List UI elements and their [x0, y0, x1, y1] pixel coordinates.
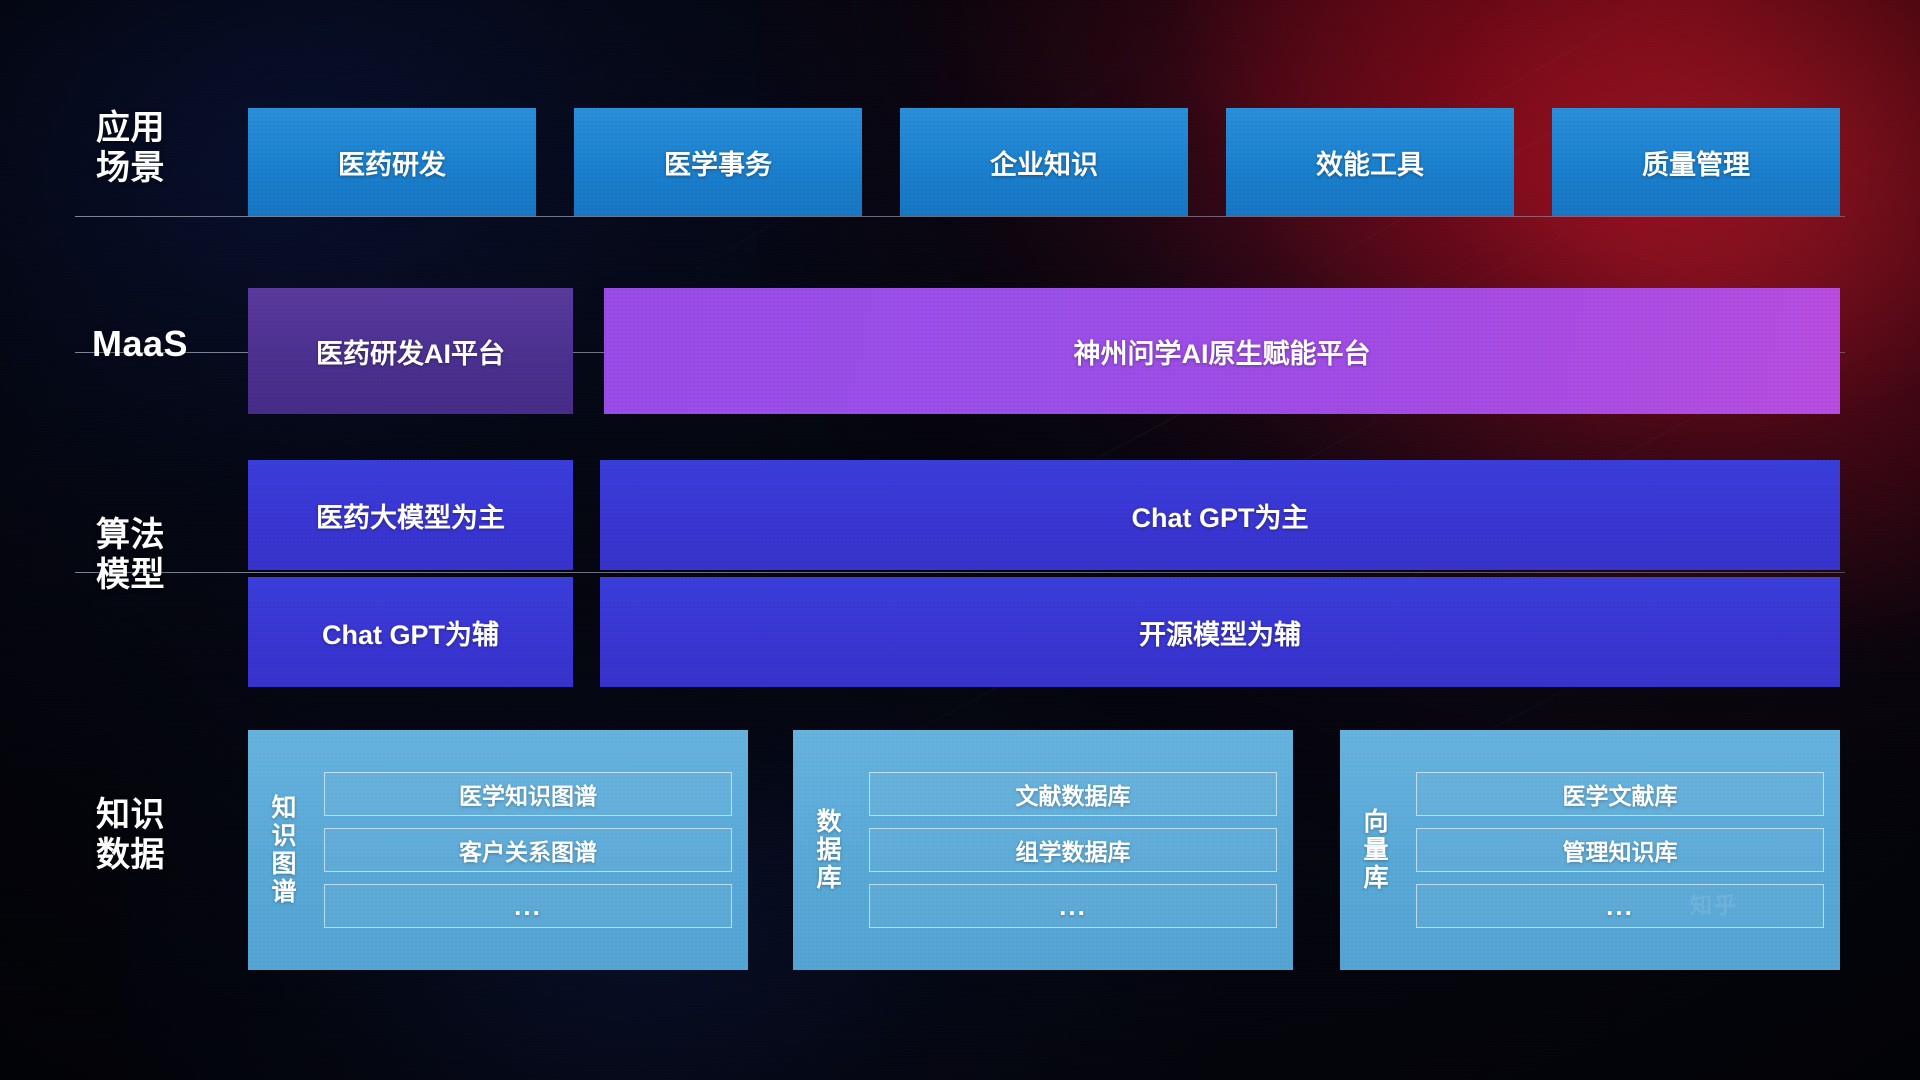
row-label-algorithm-model: 算法 模型 — [96, 515, 236, 595]
knowledge-group-2-item-1[interactable]: 文献数据库 — [869, 772, 1277, 816]
maas-box-right[interactable]: 神州问学AI原生赋能平台 — [604, 288, 1840, 414]
application-box-3-label: 企业知识 — [990, 143, 1098, 182]
application-box-1-label: 医药研发 — [338, 143, 446, 182]
knowledge-group-2-item-2[interactable]: 组学数据库 — [869, 828, 1277, 872]
application-box-2[interactable]: 医学事务 — [574, 108, 862, 216]
row-label-maas: MaaS — [92, 323, 252, 365]
algorithm-box-primary-medical[interactable]: 医药大模型为主 — [248, 460, 573, 570]
application-box-4[interactable]: 效能工具 — [1226, 108, 1514, 216]
kg1-title-char-1: 知 — [271, 794, 296, 822]
algorithm-box-primary-medical-label: 医药大模型为主 — [316, 496, 505, 535]
row-label-application-scenarios: 应用 场景 — [96, 108, 236, 188]
algorithm-box-primary-chatgpt[interactable]: Chat GPT为主 — [600, 460, 1840, 570]
knowledge-group-knowledge-graph[interactable]: 知 识 图 谱 医学知识图谱 客户关系图谱 ... — [248, 730, 748, 970]
row-label-knowledge-data: 知识 数据 — [96, 795, 236, 875]
kg1-title-char-2: 识 — [271, 822, 296, 850]
algorithm-box-secondary-opensource[interactable]: 开源模型为辅 — [600, 577, 1840, 687]
kg2-title-char-3: 库 — [816, 864, 841, 892]
knowledge-group-3-item-2[interactable]: 管理知识库 — [1416, 828, 1824, 872]
kg3-title-char-1: 向 — [1363, 808, 1388, 836]
application-box-5-label: 质量管理 — [1642, 143, 1750, 182]
kg2-title-char-2: 据 — [816, 836, 841, 864]
kg3-title-char-2: 量 — [1363, 836, 1388, 864]
application-box-1[interactable]: 医药研发 — [248, 108, 536, 216]
knowledge-group-2-title: 数 据 库 — [793, 730, 865, 970]
knowledge-group-2-items: 文献数据库 组学数据库 ... — [865, 730, 1293, 970]
knowledge-group-3-title: 向 量 库 — [1340, 730, 1412, 970]
separator-line-1 — [75, 216, 1845, 217]
knowledge-group-1-item-1[interactable]: 医学知识图谱 — [324, 772, 732, 816]
algorithm-box-secondary-opensource-label: 开源模型为辅 — [1139, 613, 1301, 652]
kg2-title-char-1: 数 — [816, 808, 841, 836]
application-box-2-label: 医学事务 — [664, 143, 772, 182]
maas-box-right-label: 神州问学AI原生赋能平台 — [1074, 332, 1371, 371]
application-box-5[interactable]: 质量管理 — [1552, 108, 1840, 216]
maas-box-left-label: 医药研发AI平台 — [316, 332, 505, 371]
application-box-3[interactable]: 企业知识 — [900, 108, 1188, 216]
knowledge-group-3-item-3[interactable]: ... — [1416, 884, 1824, 928]
knowledge-group-3-item-1[interactable]: 医学文献库 — [1416, 772, 1824, 816]
knowledge-group-1-title: 知 识 图 谱 — [248, 730, 320, 970]
separator-line-3 — [75, 572, 1845, 573]
algorithm-box-primary-chatgpt-label: Chat GPT为主 — [1131, 496, 1308, 535]
knowledge-group-vector-store[interactable]: 向 量 库 医学文献库 管理知识库 ... — [1340, 730, 1840, 970]
architecture-diagram: 应用 场景 医药研发 医学事务 企业知识 效能工具 质量管理 MaaS 医药研发… — [0, 0, 1920, 1080]
application-box-4-label: 效能工具 — [1316, 143, 1424, 182]
algorithm-box-secondary-chatgpt[interactable]: Chat GPT为辅 — [248, 577, 573, 687]
knowledge-group-1-items: 医学知识图谱 客户关系图谱 ... — [320, 730, 748, 970]
knowledge-group-2-item-3[interactable]: ... — [869, 884, 1277, 928]
knowledge-group-database[interactable]: 数 据 库 文献数据库 组学数据库 ... — [793, 730, 1293, 970]
algorithm-box-secondary-chatgpt-label: Chat GPT为辅 — [322, 613, 499, 652]
knowledge-group-3-items: 医学文献库 管理知识库 ... — [1412, 730, 1840, 970]
kg1-title-char-3: 图 — [271, 850, 296, 878]
kg3-title-char-3: 库 — [1363, 864, 1388, 892]
knowledge-group-1-item-2[interactable]: 客户关系图谱 — [324, 828, 732, 872]
knowledge-group-1-item-3[interactable]: ... — [324, 884, 732, 928]
kg1-title-char-4: 谱 — [271, 878, 296, 906]
maas-box-left[interactable]: 医药研发AI平台 — [248, 288, 573, 414]
